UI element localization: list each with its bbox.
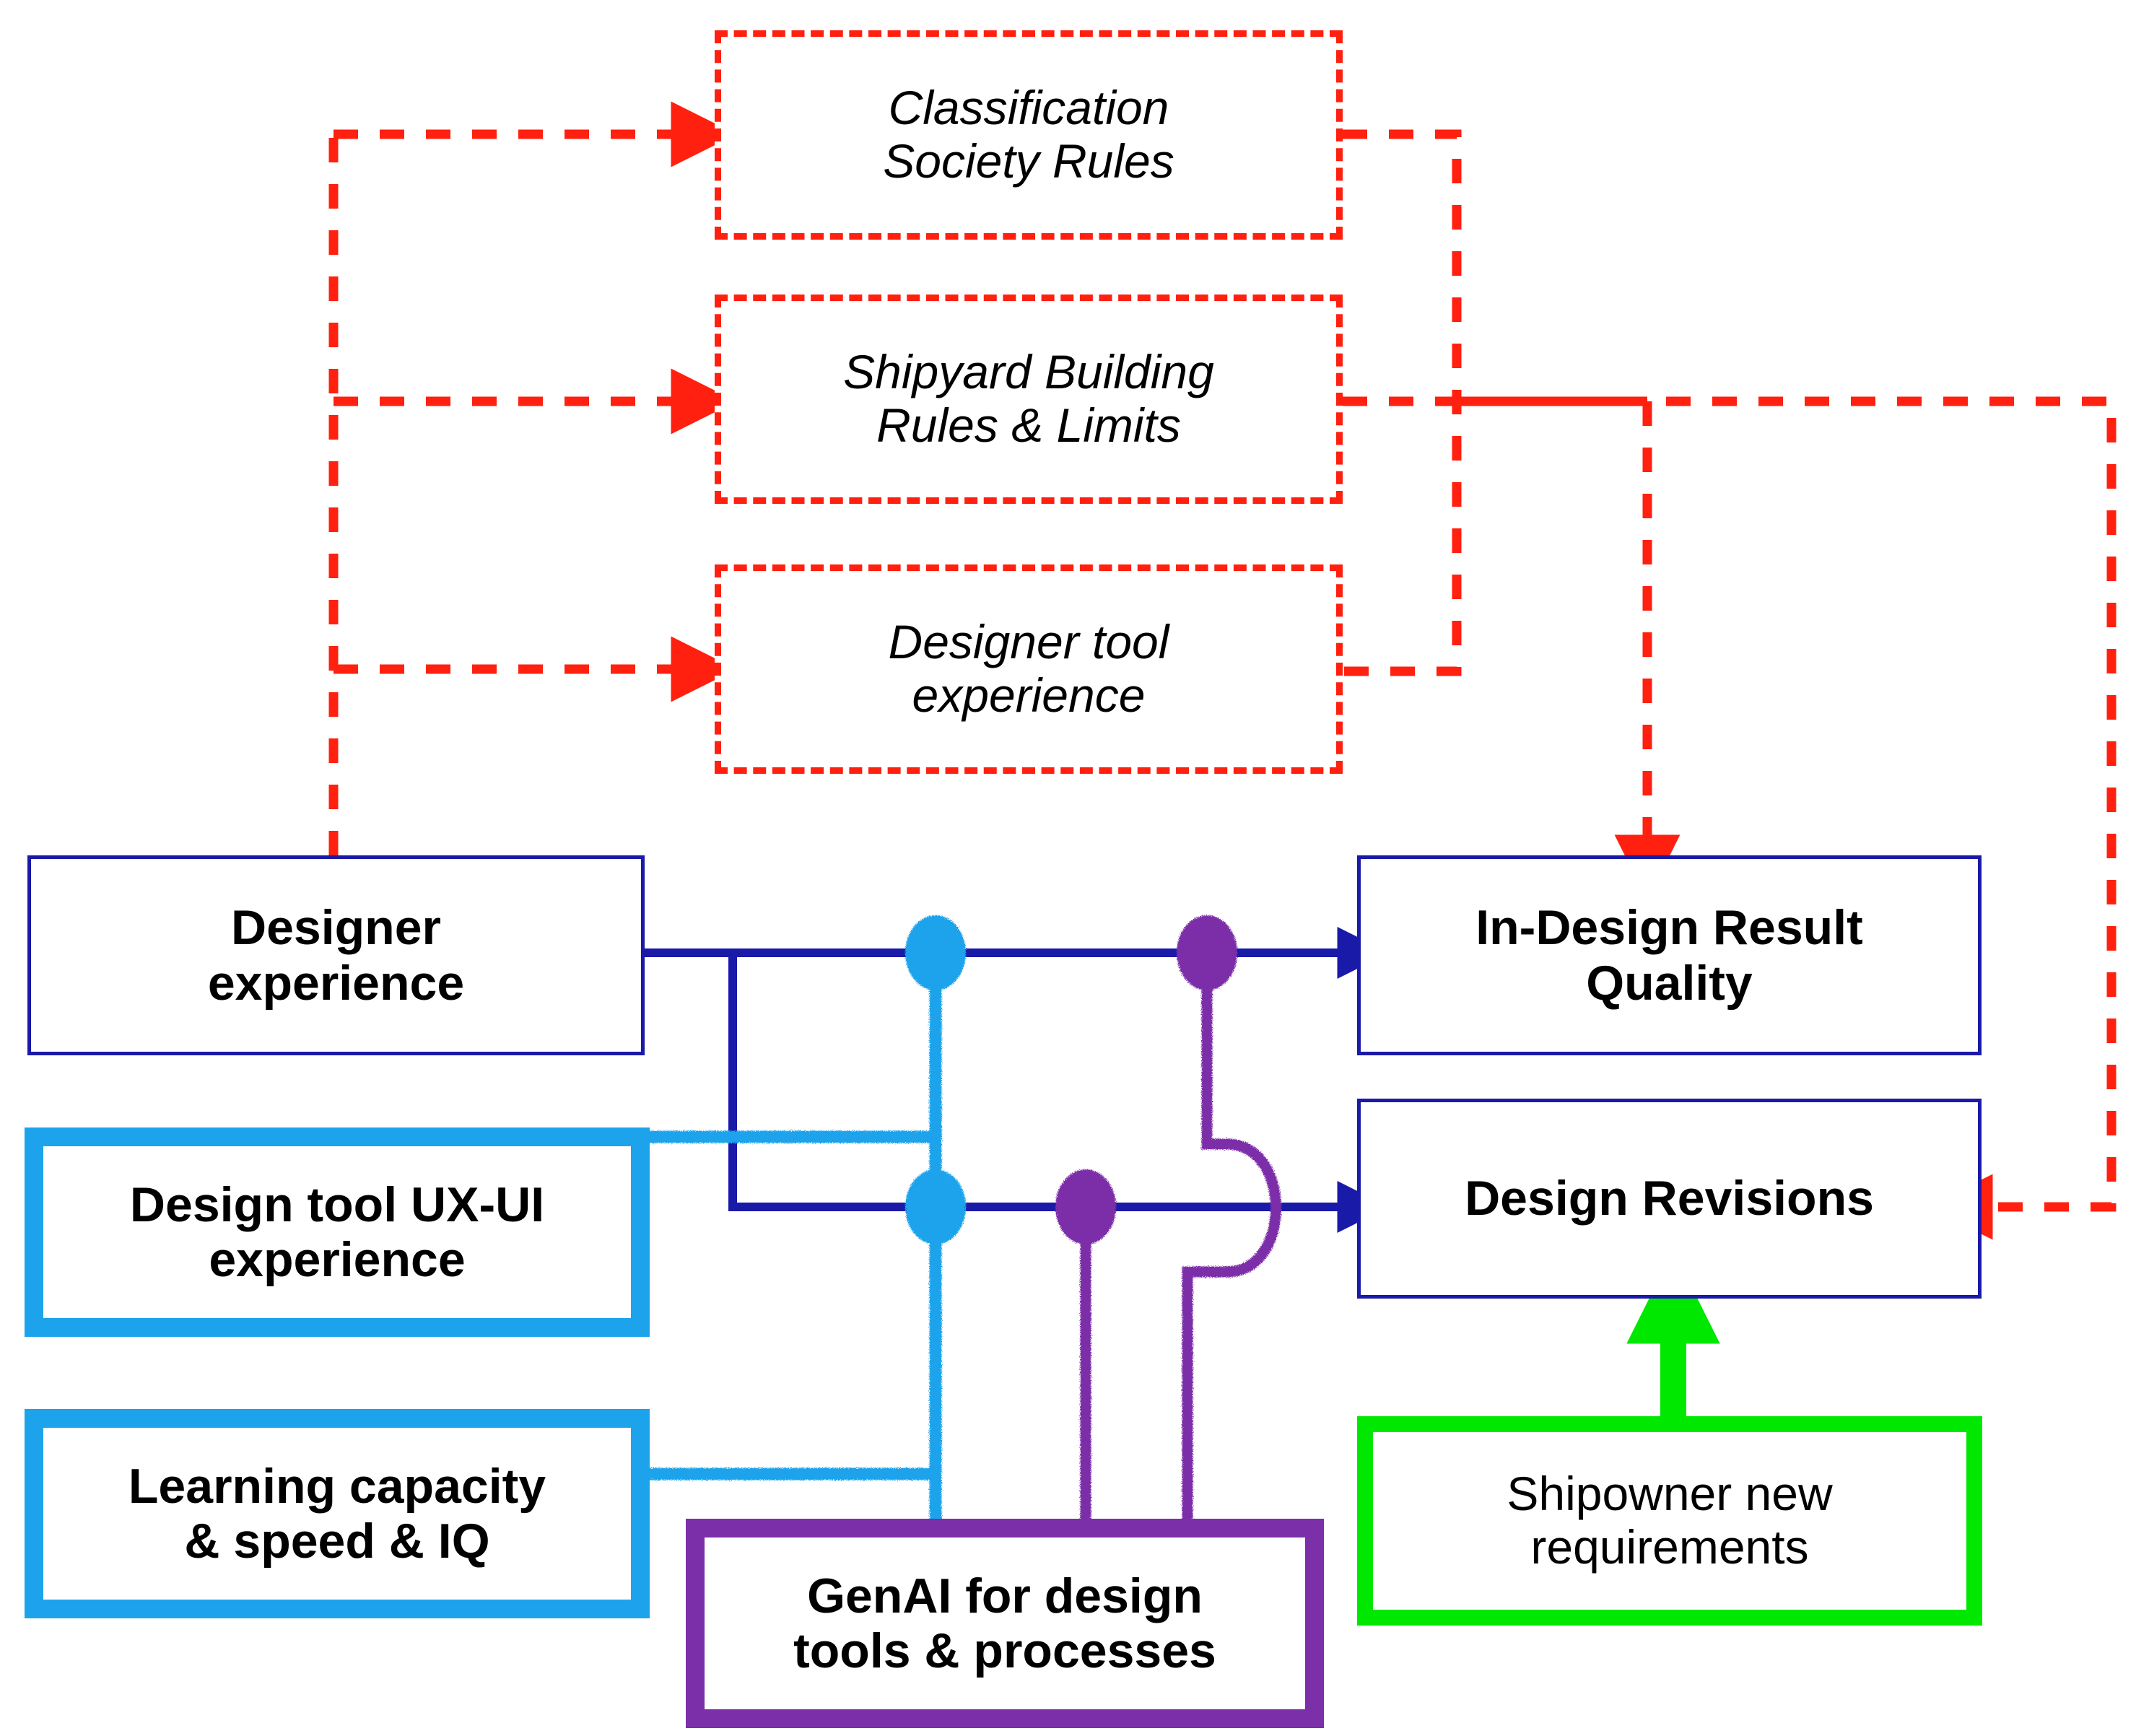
- node-classification-society-rules[interactable]: ClassificationSociety Rules: [715, 30, 1343, 240]
- blue-dot-lower: [905, 1169, 966, 1244]
- navy-influence-wires: [642, 953, 1344, 1207]
- node-label: Learning capacity& speed & IQ: [128, 1459, 546, 1569]
- purple-dot-upper: [1177, 915, 1237, 990]
- node-label: Design Revisions: [1465, 1171, 1874, 1226]
- node-label: Design tool UX-UIexperience: [130, 1177, 544, 1287]
- node-shipowner-new-requirements[interactable]: Shipowner newrequirements: [1357, 1416, 1982, 1626]
- purple-dot-lower: [1055, 1169, 1116, 1244]
- node-label: ClassificationSociety Rules: [883, 82, 1174, 188]
- node-designer-experience[interactable]: Designerexperience: [27, 855, 645, 1055]
- node-in-design-result-quality[interactable]: In-Design ResultQuality: [1357, 855, 1982, 1055]
- node-designer-tool-experience[interactable]: Designer toolexperience: [715, 564, 1343, 774]
- node-label: GenAI for designtools & processes: [793, 1569, 1216, 1678]
- node-label: In-Design ResultQuality: [1475, 900, 1863, 1010]
- purple-marker-wires: [1086, 967, 1276, 1523]
- diagram-canvas: ClassificationSociety Rules Shipyard Bui…: [0, 0, 2136, 1736]
- node-design-revisions[interactable]: Design Revisions: [1357, 1099, 1982, 1299]
- node-shipyard-building-rules-limits[interactable]: Shipyard BuildingRules & Limits: [715, 295, 1343, 504]
- blue-dot-upper: [905, 915, 966, 990]
- node-design-tool-ux-ui-experience[interactable]: Design tool UX-UIexperience: [25, 1127, 650, 1337]
- node-label: Shipowner newrequirements: [1507, 1467, 1832, 1574]
- node-genai-for-design-tools-processes[interactable]: GenAI for designtools & processes: [686, 1519, 1324, 1728]
- blue-marker-wires: [642, 954, 936, 1523]
- node-label: Designerexperience: [208, 900, 464, 1010]
- node-label: Shipyard BuildingRules & Limits: [843, 346, 1214, 453]
- node-label: Designer toolexperience: [889, 616, 1169, 723]
- node-learning-capacity-speed-iq[interactable]: Learning capacity& speed & IQ: [25, 1409, 650, 1618]
